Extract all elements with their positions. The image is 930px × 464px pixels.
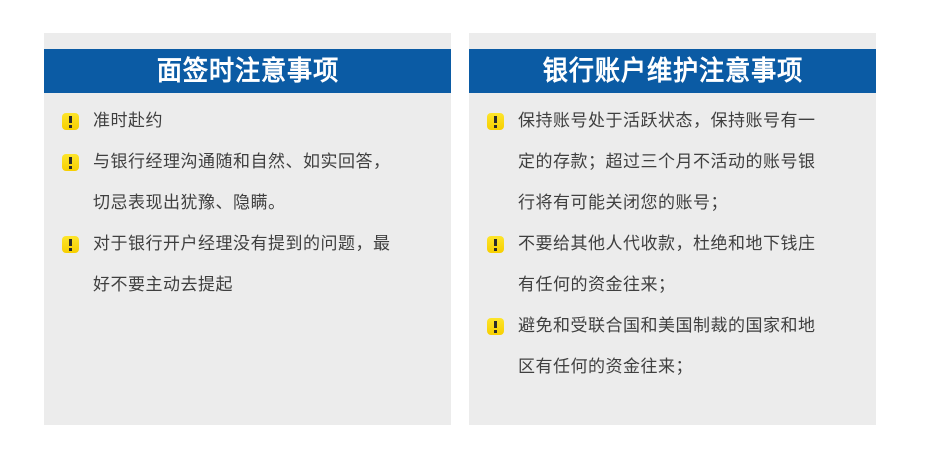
list-item-text: 不要给其他人代收款，杜绝和地下钱庄 有任何的资金往来； <box>518 224 876 306</box>
list-item: 对于银行开户经理没有提到的问题，最 好不要主动去提起 <box>44 224 451 306</box>
panel-account-maintenance: 银行账户维护注意事项 保持账号处于活跃状态，保持账号有一 定的存款；超过三个月不… <box>469 33 876 425</box>
warning-exclamation-icon <box>62 113 79 130</box>
warning-exclamation-icon <box>62 236 79 253</box>
panel-header-account: 银行账户维护注意事项 <box>469 49 876 93</box>
list-item-text: 避免和受联合国和美国制裁的国家和地 区有任何的资金往来； <box>518 306 876 388</box>
list-item-text: 保持账号处于活跃状态，保持账号有一 定的存款；超过三个月不活动的账号银 行将有可… <box>518 101 876 224</box>
warning-exclamation-icon <box>62 154 79 171</box>
list-item: 不要给其他人代收款，杜绝和地下钱庄 有任何的资金往来； <box>469 224 876 306</box>
list-item: 保持账号处于活跃状态，保持账号有一 定的存款；超过三个月不活动的账号银 行将有可… <box>469 101 876 224</box>
list-item: 准时赴约 <box>44 101 451 142</box>
panel-title-interview: 面签时注意事项 <box>156 58 338 85</box>
notice-board: 面签时注意事项 准时赴约 与银行经理沟通随和自然、如实回答， 切忌表现出犹豫、隐… <box>0 0 930 464</box>
panel-interview-notes: 面签时注意事项 准时赴约 与银行经理沟通随和自然、如实回答， 切忌表现出犹豫、隐… <box>44 33 451 425</box>
list-item-text: 与银行经理沟通随和自然、如实回答， 切忌表现出犹豫、隐瞒。 <box>93 142 451 224</box>
bullet-list-account: 保持账号处于活跃状态，保持账号有一 定的存款；超过三个月不活动的账号银 行将有可… <box>469 101 876 388</box>
list-item: 与银行经理沟通随和自然、如实回答， 切忌表现出犹豫、隐瞒。 <box>44 142 451 224</box>
list-item-text: 对于银行开户经理没有提到的问题，最 好不要主动去提起 <box>93 224 451 306</box>
warning-exclamation-icon <box>487 236 504 253</box>
panel-title-account: 银行账户维护注意事项 <box>542 58 802 85</box>
panel-header-interview: 面签时注意事项 <box>44 49 451 93</box>
list-item: 避免和受联合国和美国制裁的国家和地 区有任何的资金往来； <box>469 306 876 388</box>
warning-exclamation-icon <box>487 113 504 130</box>
warning-exclamation-icon <box>487 318 504 335</box>
list-item-text: 准时赴约 <box>93 101 451 142</box>
bullet-list-interview: 准时赴约 与银行经理沟通随和自然、如实回答， 切忌表现出犹豫、隐瞒。 对于银行开… <box>44 101 451 306</box>
